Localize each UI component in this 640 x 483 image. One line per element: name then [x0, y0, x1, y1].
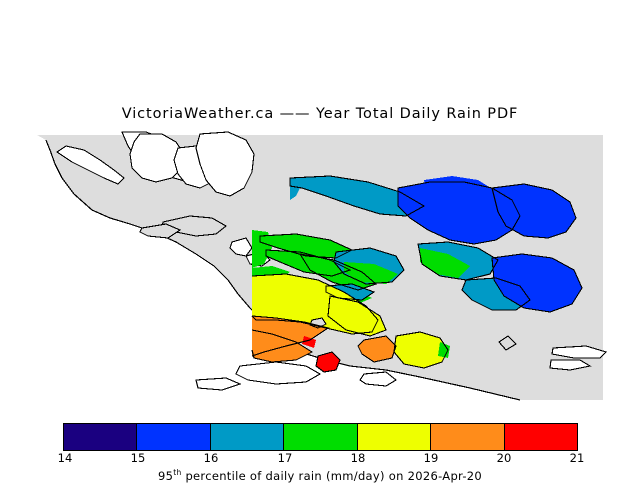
colorbar-segment-19[interactable]	[431, 424, 504, 450]
colorbar-tick-1: 15	[131, 451, 146, 465]
colorbar-segment-16[interactable]	[211, 424, 284, 450]
page-title: VictoriaWeather.ca —— Year Total Daily R…	[0, 106, 640, 122]
weather-map-page: VictoriaWeather.ca —— Year Total Daily R…	[0, 0, 640, 480]
colorbar-segment-17[interactable]	[284, 424, 357, 450]
colorbar-tick-2: 16	[204, 451, 219, 465]
map-svg	[0, 130, 640, 410]
colorbar-segment-15[interactable]	[137, 424, 210, 450]
colorbar-tick-4: 18	[351, 451, 366, 465]
caption-suffix: percentile of daily rain (mm/day) on 202…	[182, 469, 483, 483]
colorbar: 14 15 16 17 18 19 20 21 95th percentile …	[0, 418, 640, 480]
colorbar-segment-18[interactable]	[358, 424, 431, 450]
colorbar-segment-20[interactable]	[505, 424, 577, 450]
colorbar-segment-14[interactable]	[64, 424, 137, 450]
colorbar-tick-7: 21	[570, 451, 585, 465]
caption-superscript: th	[173, 468, 181, 477]
colorbar-tick-0: 14	[58, 451, 73, 465]
colorbar-caption: 95th percentile of daily rain (mm/day) o…	[0, 468, 640, 483]
caption-prefix: 95	[158, 469, 173, 483]
colorbar-tick-labels: 14 15 16 17 18 19 20 21	[0, 451, 640, 467]
colorbar-swatches	[63, 423, 578, 451]
colorbar-tick-5: 19	[424, 451, 439, 465]
map-canvas	[0, 130, 640, 410]
colorbar-tick-3: 17	[278, 451, 293, 465]
colorbar-tick-6: 20	[497, 451, 512, 465]
